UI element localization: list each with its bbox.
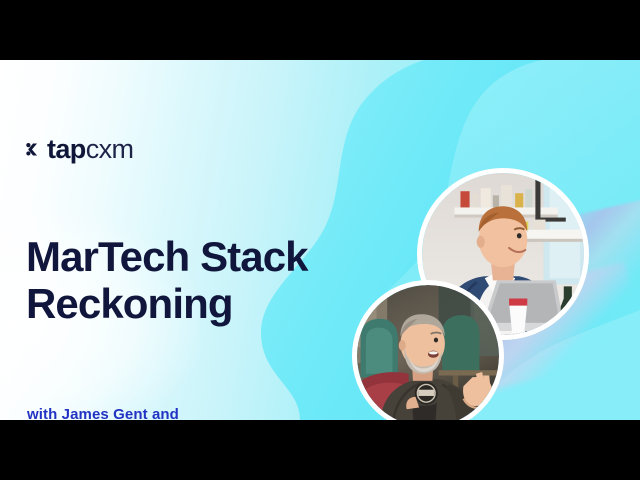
slide-artboard: tapcxm MarTech Stack Reckoning with Jame…	[0, 60, 640, 420]
letterbox-bar-top	[0, 0, 640, 60]
brand-logo-cxm: cxm	[86, 134, 134, 164]
slide-headline: MarTech Stack Reckoning	[26, 233, 308, 328]
brand-logo[interactable]: tapcxm	[24, 136, 133, 163]
tapcxm-dots-mark-icon	[24, 139, 45, 160]
video-title-slide: tapcxm MarTech Stack Reckoning with Jame…	[0, 0, 640, 480]
letterbox-bar-bottom	[0, 420, 640, 480]
brand-logo-tap: tap	[47, 134, 86, 164]
brand-logo-text: tapcxm	[47, 136, 133, 163]
photo-neil-hughes	[352, 280, 504, 420]
slide-subtitle-speakers: with James Gent and Neil Hughes	[27, 405, 179, 420]
photo-neil-hughes-image	[357, 285, 499, 420]
